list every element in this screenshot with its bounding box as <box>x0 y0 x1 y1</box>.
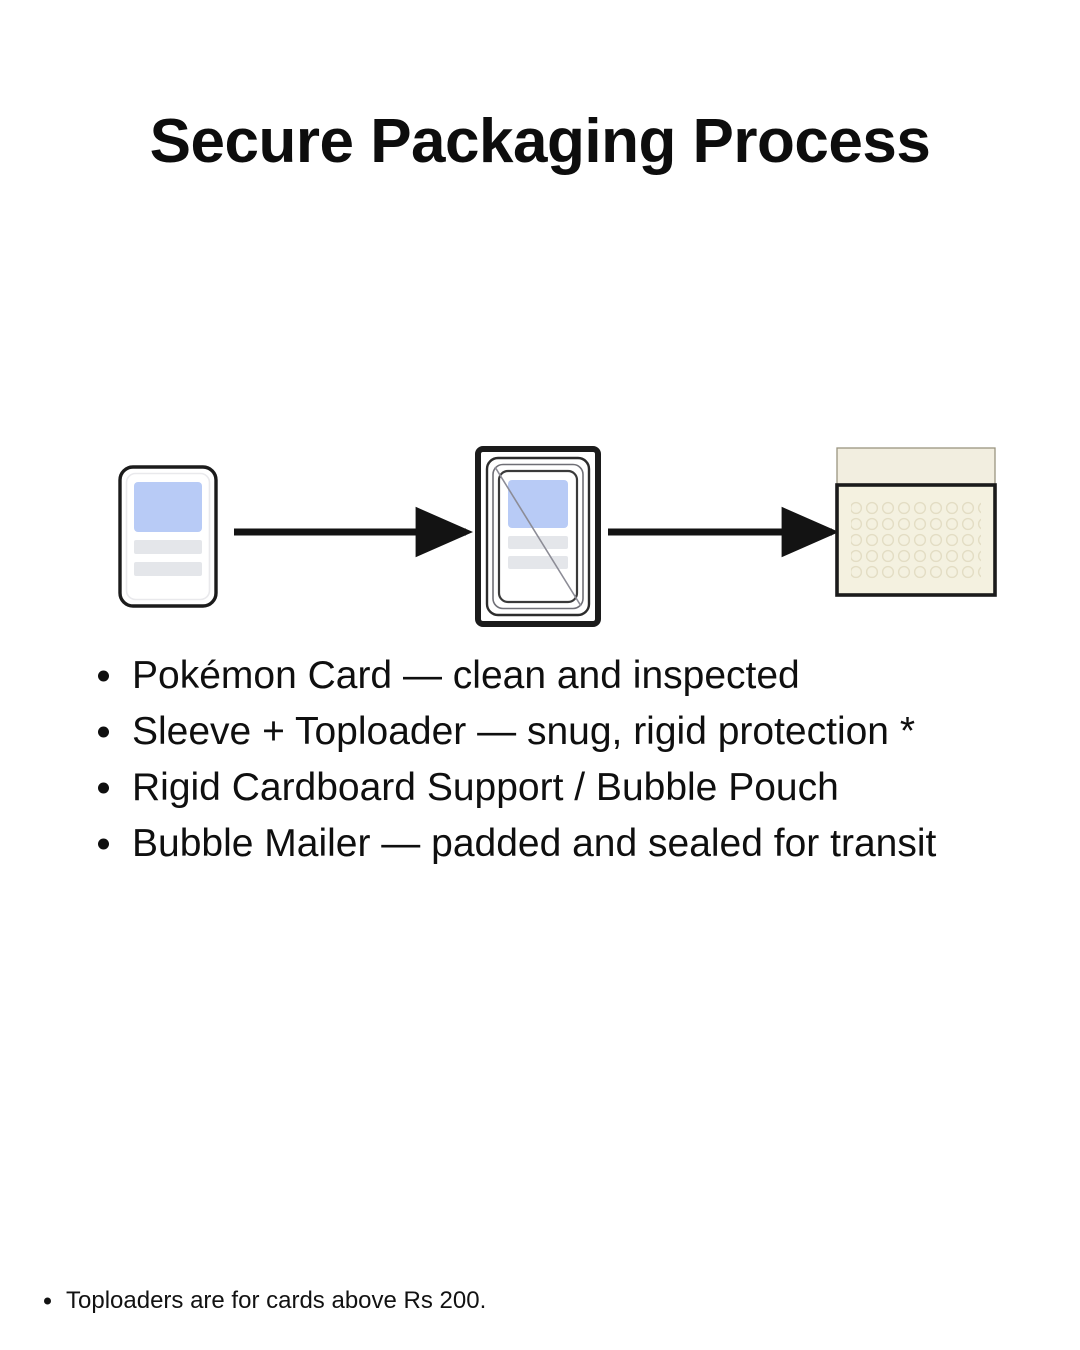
bullet-dot-icon <box>44 1298 51 1305</box>
list-item-label: Pokémon Card — clean and inspected <box>132 654 800 697</box>
list-item: Rigid Cardboard Support / Bubble Pouch <box>90 760 1050 816</box>
card-text-bar-2 <box>134 562 202 576</box>
list-item-label: Bubble Mailer — padded and sealed for tr… <box>132 822 936 865</box>
footnote-label: Toploaders are for cards above Rs 200. <box>66 1287 486 1314</box>
packaging-steps-list: Pokémon Card — clean and inspected Sleev… <box>90 648 1050 872</box>
bubble-mailer-icon <box>837 448 995 595</box>
bullet-dot-icon <box>98 727 109 738</box>
list-item-label: Rigid Cardboard Support / Bubble Pouch <box>132 766 839 809</box>
footnote-list: Toploaders are for cards above Rs 200. <box>30 1284 1030 1318</box>
list-item: Bubble Mailer — padded and sealed for tr… <box>90 816 1050 872</box>
bullet-dot-icon <box>98 783 109 794</box>
sleeve-toploader-icon <box>478 449 598 624</box>
mailer-bubble-texture <box>851 499 981 581</box>
diagram-canvas <box>0 420 1080 650</box>
bullet-dot-icon <box>98 671 109 682</box>
list-item-label: Sleeve + Toploader — snug, rigid protect… <box>132 710 915 753</box>
sleeved-card-text-bar-2 <box>508 556 568 569</box>
list-item: Pokémon Card — clean and inspected <box>90 648 1050 704</box>
card-art-panel <box>134 482 202 532</box>
card-text-bar-1 <box>134 540 202 554</box>
mailer-flap <box>837 448 995 486</box>
packaging-flow-diagram <box>0 420 1080 650</box>
bullet-dot-icon <box>98 839 109 850</box>
footnote-item: Toploaders are for cards above Rs 200. <box>30 1284 1030 1318</box>
list-item: Sleeve + Toploader — snug, rigid protect… <box>90 704 1050 760</box>
pokemon-card-icon <box>120 467 216 606</box>
page-title: Secure Packaging Process <box>0 104 1080 180</box>
